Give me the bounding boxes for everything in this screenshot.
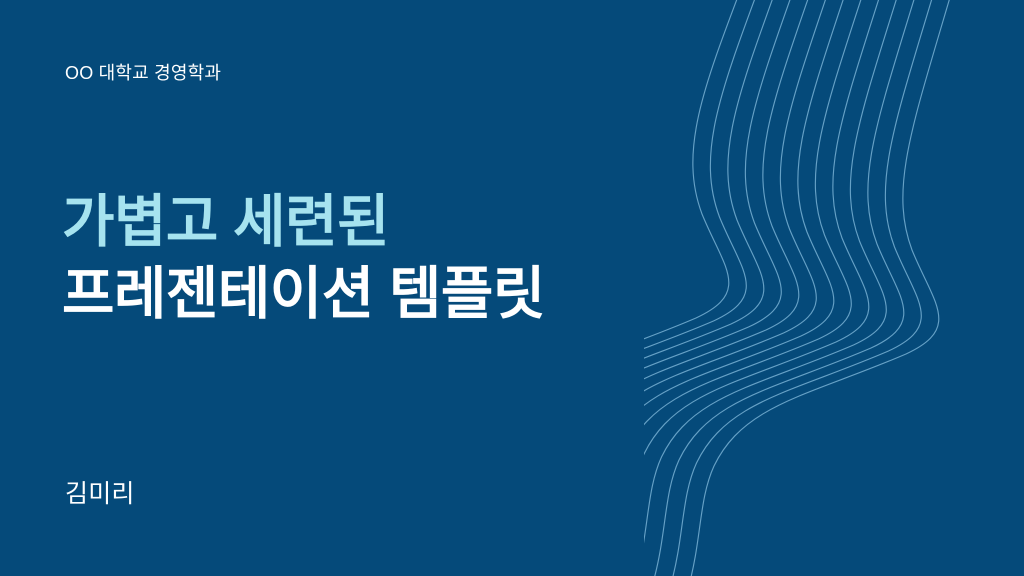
title-line-secondary: 프레젠테이션 템플릿 [62,258,545,330]
title-line-primary: 가볍고 세련된 [62,186,545,258]
affiliation-text: OO 대학교 경영학과 [65,59,221,85]
slide-text-layer: OO 대학교 경영학과 가볍고 세련된 프레젠테이션 템플릿 김미리 [0,0,1024,576]
title-slide: OO 대학교 경영학과 가볍고 세련된 프레젠테이션 템플릿 김미리 [0,0,1024,576]
author-name-text: 김미리 [65,474,135,510]
slide-title: 가볍고 세련된 프레젠테이션 템플릿 [62,186,545,331]
